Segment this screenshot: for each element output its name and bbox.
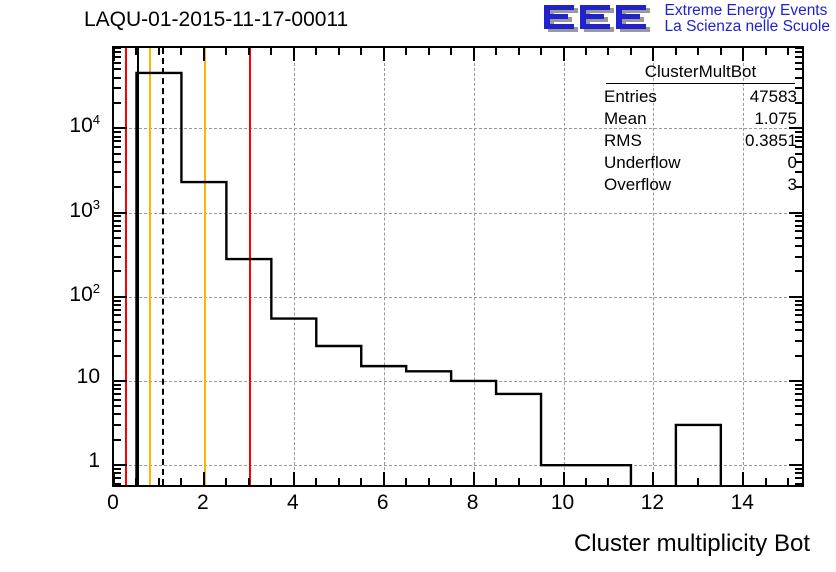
x-axis-tick-minor: [360, 478, 362, 485]
x-axis-tick-minor: [270, 478, 272, 485]
stats-row-value: 47583: [750, 86, 797, 108]
y-axis-tick-minor: [114, 146, 121, 148]
y-axis-tick-minor: [114, 424, 121, 426]
eee-logo-mark: [541, 2, 659, 38]
stats-row-key: Underflow: [604, 152, 681, 174]
x-axis-tick-major: [563, 48, 565, 61]
y-axis-tick-minor: [114, 48, 121, 49]
x-axis-tick-minor: [585, 48, 587, 55]
x-axis-tick-label: 6: [363, 491, 403, 515]
stats-row: Entries47583: [598, 86, 803, 108]
x-axis-tick-label: 8: [453, 491, 493, 515]
y-axis-tick-minor: [795, 388, 802, 390]
y-axis-tick-minor: [795, 304, 802, 306]
stats-row-key: Mean: [604, 108, 647, 130]
y-axis-tick-minor: [114, 102, 121, 104]
y-axis-tick-minor: [795, 329, 802, 331]
x-axis-tick-minor: [495, 48, 497, 55]
x-axis-tick-minor: [180, 478, 182, 485]
y-axis-tick-minor: [114, 483, 121, 485]
x-axis-tick-minor: [787, 48, 789, 55]
x-axis-tick-minor: [675, 48, 677, 55]
x-axis-tick-minor: [630, 478, 632, 485]
stats-rows: Entries47583Mean1.075RMS0.3851Underflow0…: [598, 86, 803, 196]
y-axis-tick-minor: [114, 384, 121, 386]
x-axis-tick-label: 12: [632, 491, 672, 515]
x-axis-tick-minor: [450, 48, 452, 55]
stats-row-key: Entries: [604, 86, 657, 108]
x-axis-title: Cluster multiplicity Bot: [574, 530, 810, 558]
x-axis-tick-minor: [697, 48, 699, 55]
x-axis-tick-minor: [158, 48, 160, 55]
x-axis-tick-minor: [405, 48, 407, 55]
x-axis-tick-minor: [135, 478, 137, 485]
y-axis-tick-minor: [114, 237, 121, 239]
x-axis-tick-major: [293, 48, 295, 61]
y-axis-tick-minor: [795, 256, 802, 258]
eee-logo-text: Extreme Energy Events La Scienza nelle S…: [665, 2, 830, 35]
y-axis-tick-minor: [114, 87, 121, 89]
x-axis-tick-minor: [495, 478, 497, 485]
y-axis-tick-minor: [795, 48, 802, 49]
y-axis-tick-minor: [795, 393, 802, 395]
x-axis-tick-minor: [180, 48, 182, 55]
x-axis-tick-minor: [338, 48, 340, 55]
y-axis-tick-minor: [795, 340, 802, 342]
y-axis-tick-minor: [795, 413, 802, 415]
y-axis-tick-minor: [114, 413, 121, 415]
x-axis-tick-minor: [585, 478, 587, 485]
y-axis-tick-minor: [114, 321, 121, 323]
x-axis-tick-minor: [450, 478, 452, 485]
stats-row: Mean1.075: [598, 108, 803, 130]
y-axis-tick-minor: [114, 393, 121, 395]
stats-row-value: 3: [788, 174, 797, 196]
eee-logo-line2: La Scienza nelle Scuole: [665, 19, 830, 35]
y-axis-tick-minor: [114, 329, 121, 331]
y-axis-tick-minor: [114, 340, 121, 342]
x-axis-tick-minor: [270, 48, 272, 55]
y-axis-tick-minor: [114, 186, 121, 188]
x-axis-tick-minor: [315, 478, 317, 485]
eee-logo: Extreme Energy Events La Scienza nelle S…: [541, 2, 830, 40]
y-axis-tick-major: [789, 212, 802, 214]
x-axis-tick-minor: [540, 478, 542, 485]
y-axis-tick-major: [114, 380, 127, 382]
y-axis-tick-minor: [795, 405, 802, 407]
y-axis-tick-minor: [114, 140, 121, 142]
x-axis-tick-minor: [540, 48, 542, 55]
y-axis-tick-major: [114, 464, 127, 466]
y-axis-tick-minor: [114, 314, 121, 316]
y-axis-tick-minor: [114, 77, 121, 79]
y-axis-tick-label: 102: [0, 281, 100, 307]
y-axis-tick-minor: [795, 384, 802, 386]
x-axis-tick-minor: [428, 48, 430, 55]
y-axis-tick-major: [789, 464, 802, 466]
x-axis-tick-minor: [518, 48, 520, 55]
x-axis-tick-label: 2: [183, 491, 223, 515]
y-axis-tick-minor: [795, 321, 802, 323]
y-axis-tick-minor: [795, 225, 802, 227]
y-axis-tick-minor: [114, 68, 121, 70]
x-axis-tick-major: [742, 472, 744, 485]
y-axis-tick-minor: [795, 220, 802, 222]
y-axis-tick-major: [114, 212, 127, 214]
x-axis-tick-label: 4: [273, 491, 313, 515]
y-axis-tick-minor: [795, 468, 802, 470]
x-axis-tick-minor: [720, 48, 722, 55]
stats-row-value: 1.075: [754, 108, 797, 130]
y-axis-tick-minor: [114, 153, 121, 155]
x-axis-tick-major: [742, 48, 744, 61]
x-axis-tick-major: [473, 48, 475, 61]
y-axis-tick-minor: [114, 388, 121, 390]
y-axis-tick-minor: [795, 399, 802, 401]
y-axis-tick-minor: [114, 230, 121, 232]
y-axis-tick-label: 104: [0, 112, 100, 138]
y-axis-tick-minor: [114, 355, 121, 357]
x-axis-tick-minor: [518, 478, 520, 485]
x-axis-tick-minor: [630, 48, 632, 55]
y-axis-tick-minor: [114, 56, 121, 58]
x-axis-tick-label: 14: [722, 491, 762, 515]
x-axis-tick-minor: [787, 478, 789, 485]
x-axis-tick-minor: [675, 478, 677, 485]
x-axis-tick-minor: [765, 48, 767, 55]
x-axis-tick-minor: [158, 478, 160, 485]
x-axis-tick-minor: [338, 478, 340, 485]
y-axis-tick-minor: [795, 314, 802, 316]
y-axis-tick-minor: [114, 468, 121, 470]
y-axis-tick-minor: [114, 225, 121, 227]
y-axis-tick-minor: [795, 355, 802, 357]
y-axis-tick-minor: [795, 424, 802, 426]
x-axis-tick-minor: [607, 478, 609, 485]
y-axis-tick-minor: [795, 56, 802, 58]
x-axis-tick-major: [383, 472, 385, 485]
stats-row: Overflow3: [598, 174, 803, 196]
y-axis-tick-minor: [795, 439, 802, 441]
stats-row-key: RMS: [604, 130, 642, 152]
y-axis-tick-minor: [114, 215, 121, 217]
x-axis-tick-major: [293, 472, 295, 485]
y-axis-tick-minor: [114, 472, 121, 474]
x-axis-tick-minor: [720, 478, 722, 485]
x-axis-tick-minor: [360, 48, 362, 55]
y-axis-tick-minor: [795, 215, 802, 217]
x-axis-tick-minor: [405, 478, 407, 485]
stats-title: ClusterMultBot: [606, 62, 795, 84]
y-axis-tick-minor: [114, 62, 121, 64]
x-axis-tick-major: [114, 472, 115, 485]
x-axis-tick-label: 0: [93, 491, 133, 515]
x-axis-tick-major: [114, 48, 115, 61]
x-axis-tick-major: [652, 48, 654, 61]
y-axis-tick-minor: [114, 399, 121, 401]
x-axis-tick-major: [563, 472, 565, 485]
y-axis-tick-minor: [114, 171, 121, 173]
y-axis-tick-minor: [114, 477, 121, 479]
y-axis-tick-minor: [114, 131, 121, 133]
x-axis-tick-minor: [248, 478, 250, 485]
y-axis-tick-minor: [795, 237, 802, 239]
y-axis-tick-minor: [795, 51, 802, 53]
y-axis-tick-minor: [795, 230, 802, 232]
y-axis-tick-minor: [795, 300, 802, 302]
y-axis-tick-minor: [114, 161, 121, 163]
eee-logo-line1: Extreme Energy Events: [665, 3, 830, 19]
y-axis-tick-minor: [114, 51, 121, 53]
y-axis-tick-minor: [114, 304, 121, 306]
stats-row-value: 0.3851: [745, 130, 797, 152]
x-axis-tick-minor: [697, 478, 699, 485]
page-title: LAQU-01-2015-11-17-00011: [84, 8, 348, 32]
y-axis-tick-minor: [795, 309, 802, 311]
stats-row-key: Overflow: [604, 174, 671, 196]
x-axis-tick-minor: [248, 48, 250, 55]
y-axis-tick-minor: [795, 472, 802, 474]
x-axis-tick-minor: [225, 48, 227, 55]
y-axis-tick-minor: [114, 136, 121, 138]
y-axis-tick-major: [789, 380, 802, 382]
x-axis-tick-label: 10: [543, 491, 583, 515]
y-axis-tick-minor: [795, 483, 802, 485]
x-axis-tick-minor: [225, 478, 227, 485]
x-axis-tick-major: [203, 48, 205, 61]
plot-canvas: LAQU-01-2015-11-17-00011: [0, 0, 836, 572]
y-axis-tick-minor: [114, 256, 121, 258]
y-axis-tick-major: [114, 296, 127, 298]
stats-row: Underflow0: [598, 152, 803, 174]
x-axis-tick-minor: [428, 478, 430, 485]
y-axis-tick-major: [114, 127, 127, 129]
y-axis-tick-label: 103: [0, 197, 100, 223]
y-axis-tick-minor: [795, 270, 802, 272]
y-axis-tick-label: 1: [0, 449, 100, 473]
stats-box: ClusterMultBot Entries47583Mean1.075RMS0…: [598, 62, 803, 196]
y-axis-tick-minor: [114, 220, 121, 222]
stats-row-value: 0: [788, 152, 797, 174]
x-axis-tick-minor: [135, 48, 137, 55]
y-axis-tick-minor: [795, 477, 802, 479]
stats-row: RMS0.3851: [598, 130, 803, 152]
y-axis-tick-minor: [114, 270, 121, 272]
x-axis-tick-major: [652, 472, 654, 485]
x-axis-tick-minor: [765, 478, 767, 485]
y-axis-tick-major: [789, 296, 802, 298]
y-axis-tick-minor: [114, 300, 121, 302]
x-axis-tick-minor: [315, 48, 317, 55]
y-axis-tick-minor: [114, 405, 121, 407]
y-axis-tick-label: 10: [0, 365, 100, 389]
y-axis-tick-minor: [114, 309, 121, 311]
x-axis-tick-major: [383, 48, 385, 61]
x-axis-tick-major: [473, 472, 475, 485]
x-axis-tick-minor: [607, 48, 609, 55]
x-axis-tick-major: [203, 472, 205, 485]
y-axis-tick-minor: [114, 245, 121, 247]
y-axis-tick-minor: [795, 245, 802, 247]
y-axis-tick-minor: [114, 439, 121, 441]
